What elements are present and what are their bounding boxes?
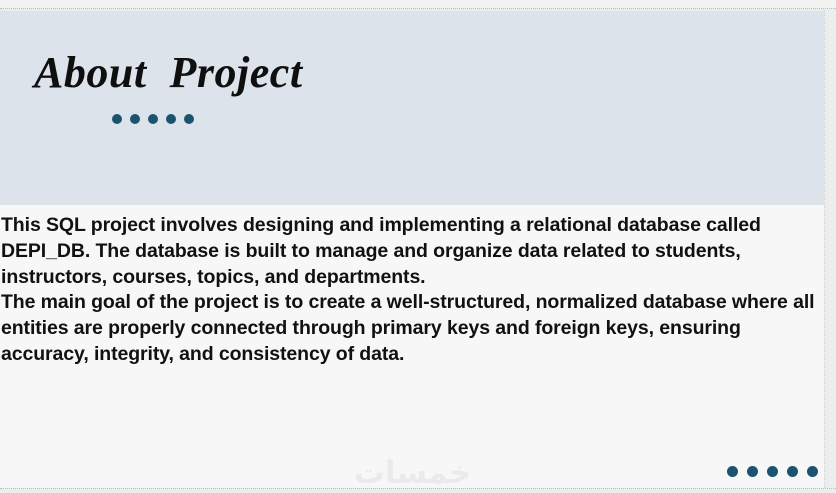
dot-icon: [148, 114, 158, 124]
slide-separator-top: [0, 8, 836, 9]
watermark-text: خمسات: [0, 455, 825, 488]
dot-icon: [184, 114, 194, 124]
dot-icon: [747, 466, 758, 477]
slide-viewer: About Project This SQL project involves …: [0, 0, 836, 493]
corner-dot-decoration: [727, 466, 818, 477]
dot-icon: [166, 114, 176, 124]
dot-icon: [112, 114, 122, 124]
slide-canvas[interactable]: About Project This SQL project involves …: [0, 11, 825, 488]
dot-icon: [807, 466, 818, 477]
slide-body-text: This SQL project involves designing and …: [1, 213, 823, 368]
dot-icon: [727, 466, 738, 477]
dot-icon: [767, 466, 778, 477]
body-paragraph: The main goal of the project is to creat…: [1, 290, 823, 367]
previous-slide-edge: [0, 0, 836, 8]
slide-header-band: [0, 11, 825, 205]
body-paragraph: This SQL project involves designing and …: [1, 213, 823, 290]
slide-separator-bottom: [0, 488, 836, 489]
title-dot-decoration: [112, 114, 194, 124]
page-title: About Project: [34, 49, 303, 97]
dot-icon: [787, 466, 798, 477]
dot-icon: [130, 114, 140, 124]
